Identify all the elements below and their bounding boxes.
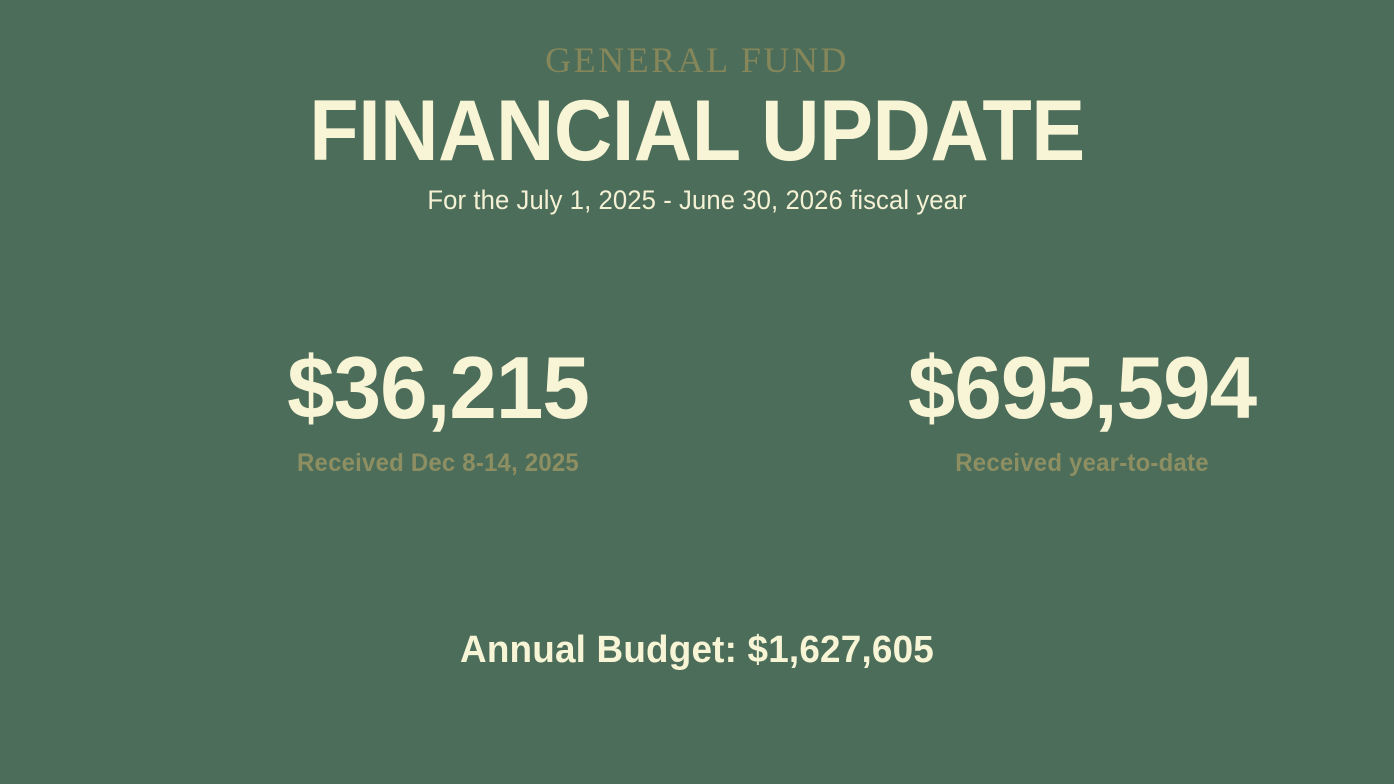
stat-caption: Received Dec 8-14, 2025 [198, 450, 678, 478]
eyebrow-general-fund: GENERAL FUND [0, 42, 1394, 78]
stat-value: $36,215 [195, 344, 680, 432]
stat-weekly-received: $36,215 Received Dec 8-14, 2025 [188, 344, 688, 478]
stat-caption: Received year-to-date [842, 450, 1322, 478]
page-title: FINANCIAL UPDATE [42, 88, 1352, 174]
stat-year-to-date-received: $695,594 Received year-to-date [832, 344, 1332, 478]
stats-row: $36,215 Received Dec 8-14, 2025 $695,594… [0, 344, 1394, 478]
financial-update-slide: GENERAL FUND FINANCIAL UPDATE For the Ju… [0, 0, 1394, 784]
stat-value: $695,594 [839, 344, 1324, 432]
fiscal-year-subtitle: For the July 1, 2025 - June 30, 2026 fis… [35, 186, 1359, 216]
header-block: GENERAL FUND FINANCIAL UPDATE For the Ju… [0, 42, 1394, 216]
annual-budget-line: Annual Budget: $1,627,605 [21, 630, 1373, 672]
